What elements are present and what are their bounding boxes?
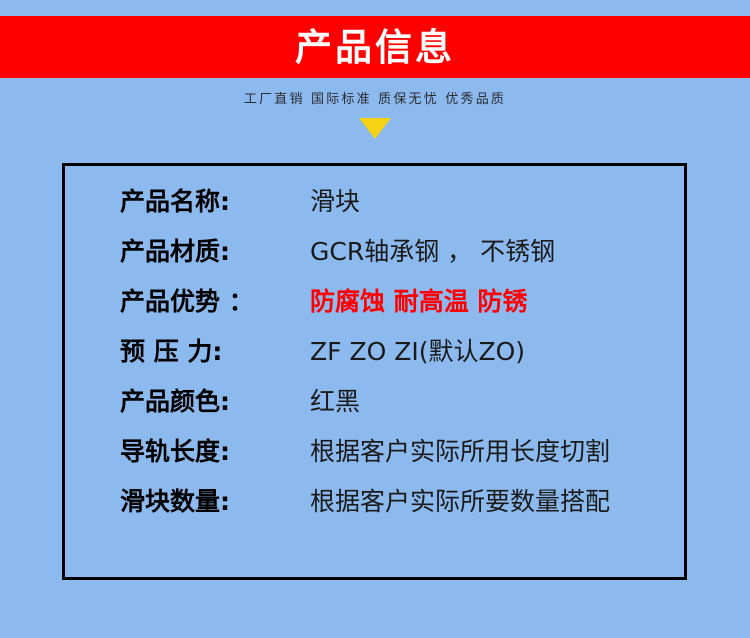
spec-label: 产品颜色: bbox=[120, 382, 310, 418]
page-title: 产品信息 bbox=[295, 29, 455, 66]
table-row: 产品材质: GCR轴承钢 ， 不锈钢 bbox=[120, 232, 684, 282]
spec-value: 根据客户实际所用长度切割 bbox=[310, 432, 610, 468]
spec-label: 产品名称: bbox=[120, 182, 310, 218]
subtitle-slogan: 工厂直销 国际标准 质保无忧 优秀品质 bbox=[0, 88, 750, 107]
spec-value: 红黑 bbox=[310, 382, 360, 418]
table-row: 预 压 力: ZF ZO ZI(默认ZO) bbox=[120, 332, 684, 382]
spec-value: GCR轴承钢 ， 不锈钢 bbox=[310, 232, 555, 268]
header-banner: 产品信息 bbox=[0, 16, 750, 78]
spec-value: 根据客户实际所要数量搭配 bbox=[310, 482, 610, 518]
table-row: 产品优势 ： 防腐蚀 耐高温 防锈 bbox=[120, 282, 684, 332]
spec-table-box: 产品名称: 滑块 产品材质: GCR轴承钢 ， 不锈钢 产品优势 ： 防腐蚀 耐… bbox=[62, 163, 687, 580]
arrow-container bbox=[0, 118, 750, 139]
product-info-page: 产品信息 工厂直销 国际标准 质保无忧 优秀品质 产品名称: 滑块 产品材质: … bbox=[0, 0, 750, 638]
spec-value: ZF ZO ZI(默认ZO) bbox=[310, 332, 525, 368]
table-row: 滑块数量: 根据客户实际所要数量搭配 bbox=[120, 482, 684, 532]
spec-list: 产品名称: 滑块 产品材质: GCR轴承钢 ， 不锈钢 产品优势 ： 防腐蚀 耐… bbox=[120, 182, 684, 532]
spec-label: 导轨长度: bbox=[120, 432, 310, 468]
table-row: 产品颜色: 红黑 bbox=[120, 382, 684, 432]
spec-label: 产品材质: bbox=[120, 232, 310, 268]
spec-label: 预 压 力: bbox=[120, 332, 310, 368]
table-row: 导轨长度: 根据客户实际所用长度切割 bbox=[120, 432, 684, 482]
triangle-down-icon bbox=[359, 118, 391, 139]
spec-label: 产品优势 ： bbox=[120, 282, 310, 318]
spec-value: 滑块 bbox=[310, 182, 360, 218]
spec-value-highlight: 防腐蚀 耐高温 防锈 bbox=[310, 282, 527, 318]
table-row: 产品名称: 滑块 bbox=[120, 182, 684, 232]
spec-label: 滑块数量: bbox=[120, 482, 310, 518]
